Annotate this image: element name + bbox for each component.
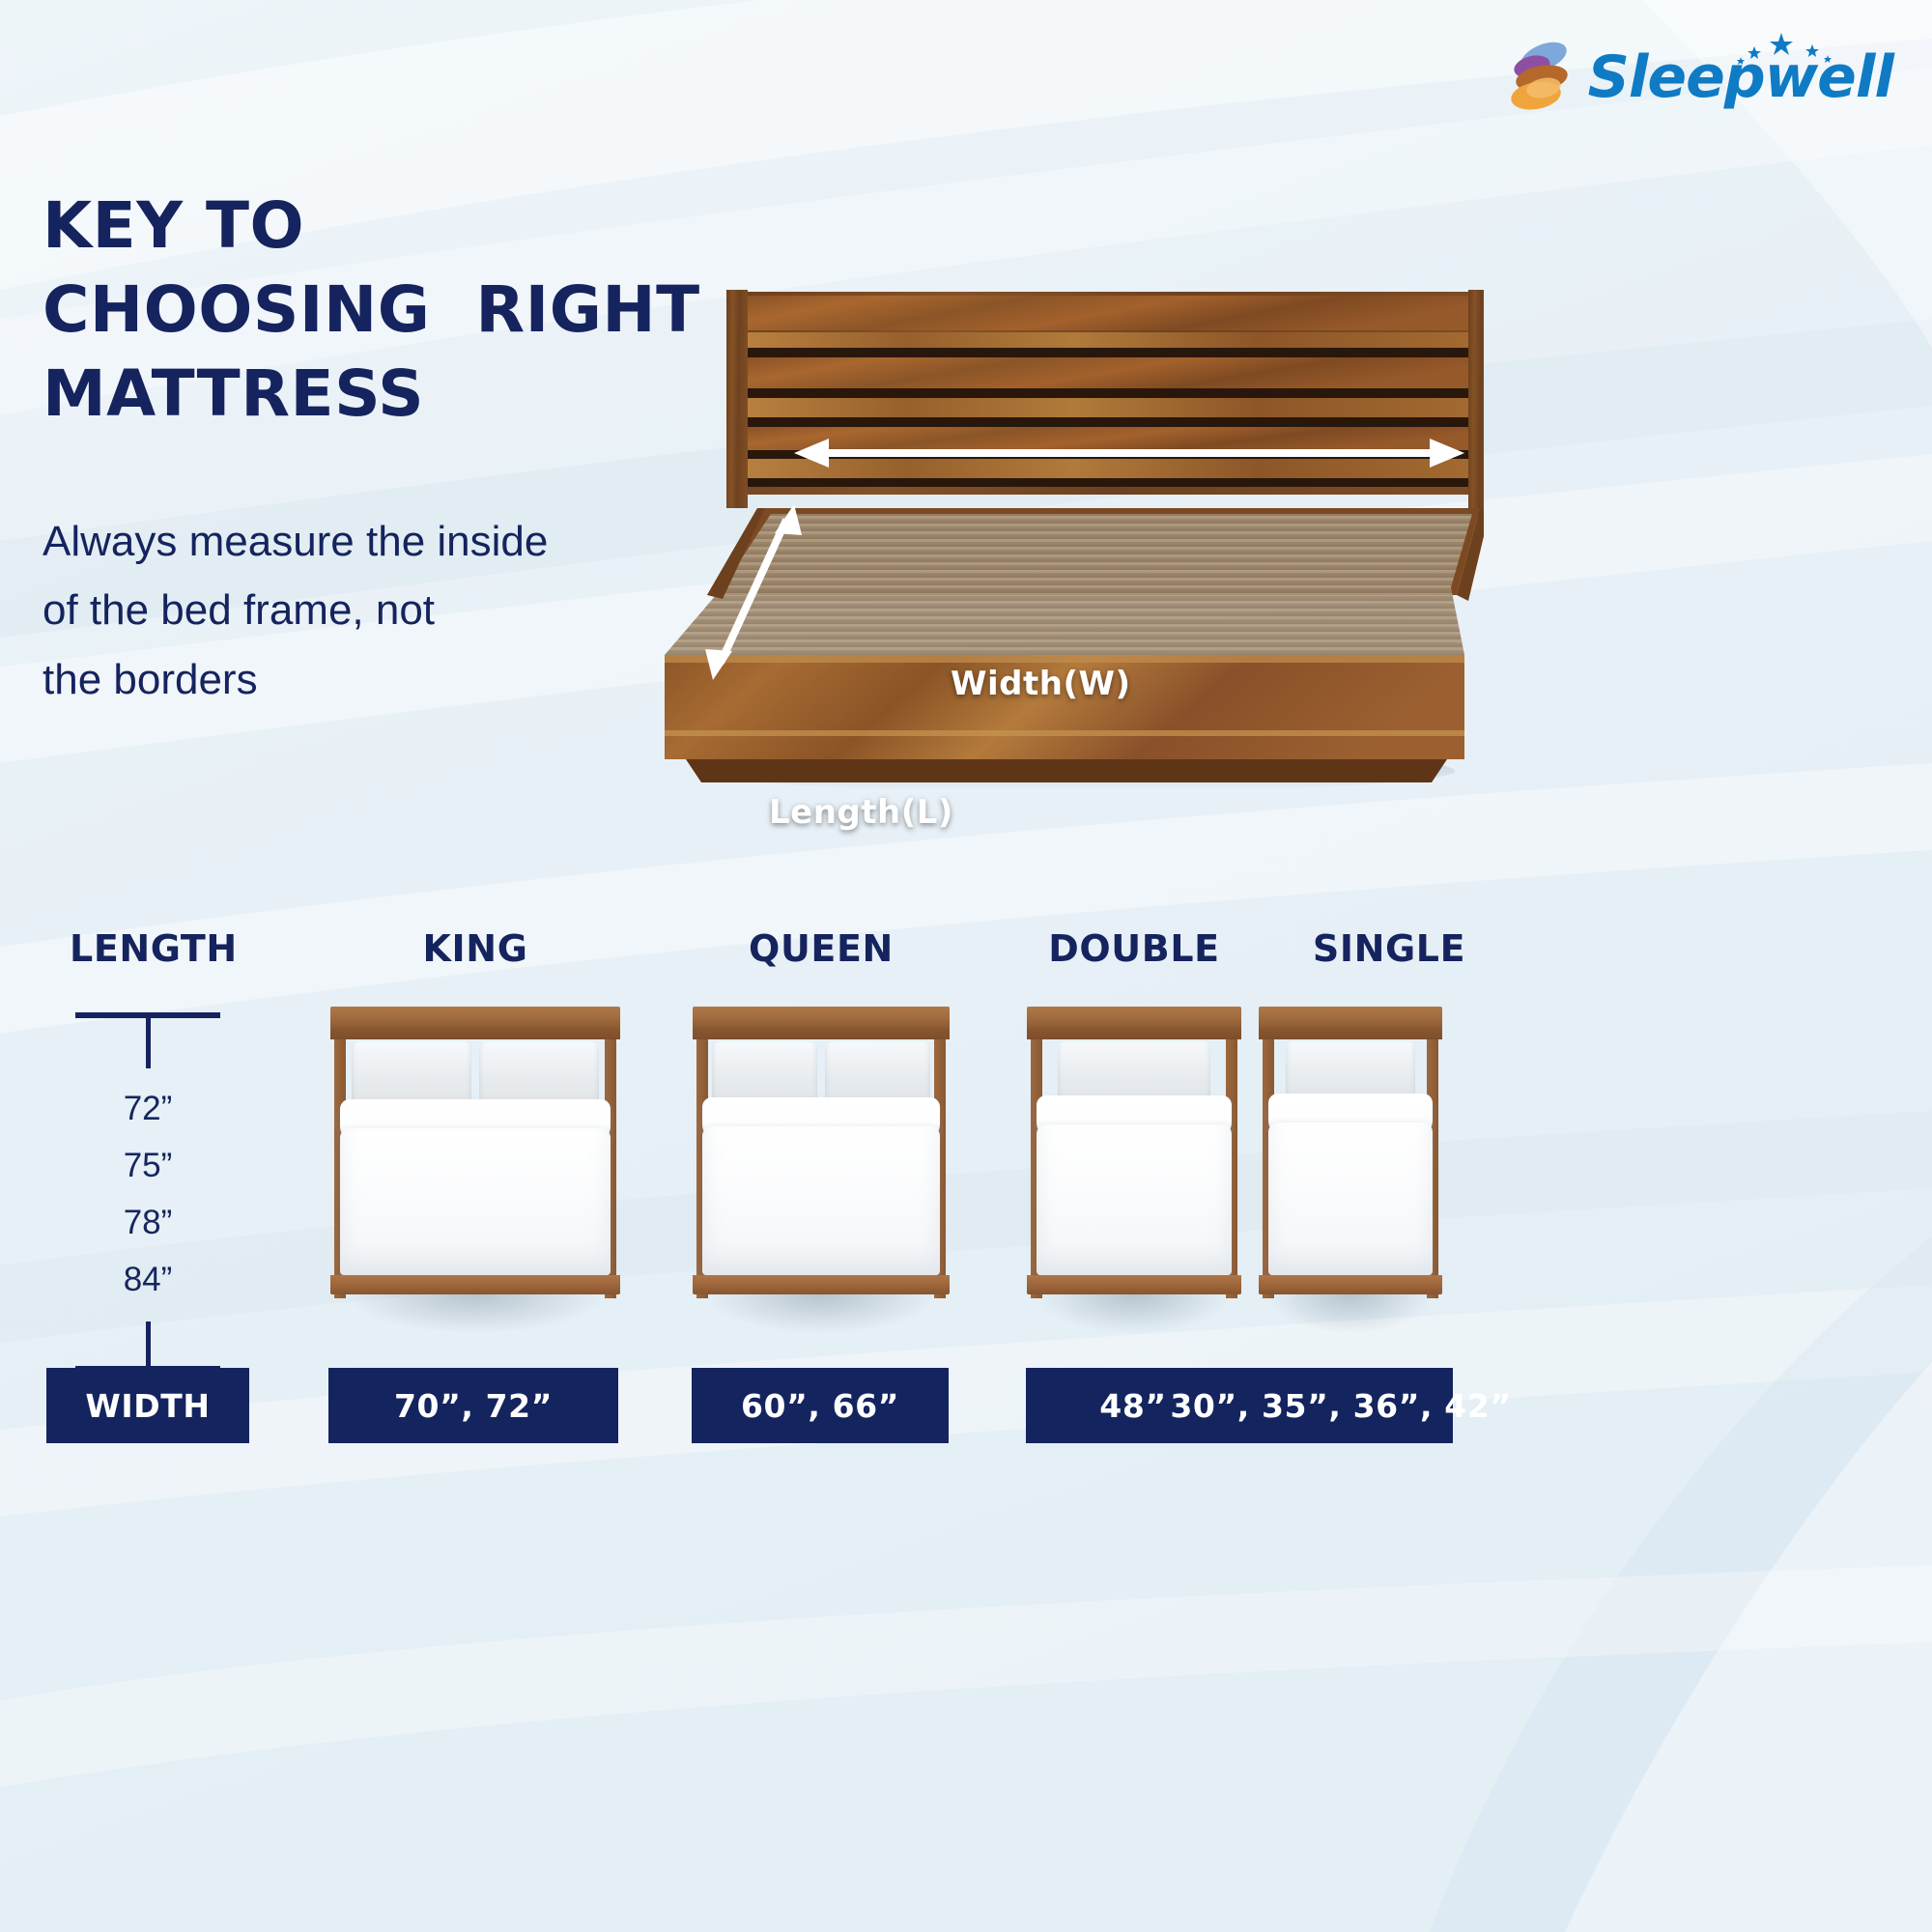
length-dimension-label: Length(L) [769,793,953,832]
width-value-king-text: 70”, 72” [394,1387,553,1425]
mattress-size-comparison: LENGTH KING QUEEN DOUBLE SINGLE 72” 75” … [0,927,1932,1932]
length-scale-bottom-tick [146,1321,151,1366]
duvet [1268,1122,1433,1275]
column-header-queen[interactable]: QUEEN [705,927,937,970]
headboard [693,1007,950,1028]
footboard [1027,1275,1241,1294]
length-value-72: 72” [75,1092,220,1125]
bed-frame-illustration: Width(W) Length(L) [614,276,1484,788]
width-value-king[interactable]: 70”, 72” [328,1368,618,1443]
length-value-75: 75” [75,1149,220,1182]
bed-drop-shadow [708,1294,934,1333]
width-row-label: WIDTH [46,1368,249,1443]
headboard-lip [1027,1028,1241,1039]
headboard-lip [1259,1028,1442,1039]
bed-illustration-king [330,1007,620,1296]
footboard [1259,1275,1442,1294]
bed-drop-shadow [1269,1294,1431,1333]
width-value-single-text: 30”, 35”, 36”, 42” [1170,1387,1511,1425]
width-value-double-text: 48” [1099,1387,1166,1425]
headline-line-1: KEY TO [43,184,700,268]
footboard [693,1275,950,1294]
headboard-lip [693,1028,950,1039]
column-header-king[interactable]: KING [359,927,591,970]
bed-frame-graphic [614,276,1484,788]
headboard [1027,1007,1241,1028]
duvet [340,1128,611,1275]
duvet [1037,1124,1232,1275]
bed-illustration-single [1259,1007,1442,1296]
column-header-double[interactable]: DOUBLE [1018,927,1250,970]
subtitle-line-1: Always measure the inside [43,507,661,576]
headboard-lip [330,1028,620,1039]
width-value-queen-text: 60”, 66” [741,1387,899,1425]
bed-drop-shadow [1039,1294,1228,1333]
headline-line-3: MATTRESS [43,352,700,436]
page-subtitle: Always measure the inside of the bed fra… [43,507,661,714]
bed-illustration-queen [693,1007,950,1296]
subtitle-line-2: of the bed frame, not [43,576,661,644]
bed-illustration-double [1027,1007,1241,1296]
stars-icon [1725,31,1841,70]
length-value-84: 84” [75,1263,220,1296]
footboard [330,1275,620,1294]
width-dimension-label: Width(W) [951,665,1131,703]
headline-line-2: CHOOSING RIGHT [43,268,700,352]
headboard [330,1007,620,1028]
headboard [1259,1007,1442,1028]
width-value-single[interactable]: 30”, 35”, 36”, 42” [1229,1368,1453,1443]
length-scale-top-tick [146,1018,151,1068]
column-header-single[interactable]: SINGLE [1273,927,1505,970]
width-row-label-text: WIDTH [85,1387,210,1425]
length-value-78: 78” [75,1206,220,1239]
duvet [702,1126,940,1275]
length-column-header: LENGTH [70,927,234,970]
bed-drop-shadow [348,1294,603,1333]
width-value-queen[interactable]: 60”, 66” [692,1368,949,1443]
length-scale: 72” 75” 78” 84” [75,1012,220,1372]
brand-logo: Sleepwell [1507,35,1893,120]
subtitle-line-3: the borders [43,645,661,714]
sleepwell-swirl-icon [1507,35,1571,120]
page-title: KEY TO CHOOSING RIGHT MATTRESS [43,184,700,436]
